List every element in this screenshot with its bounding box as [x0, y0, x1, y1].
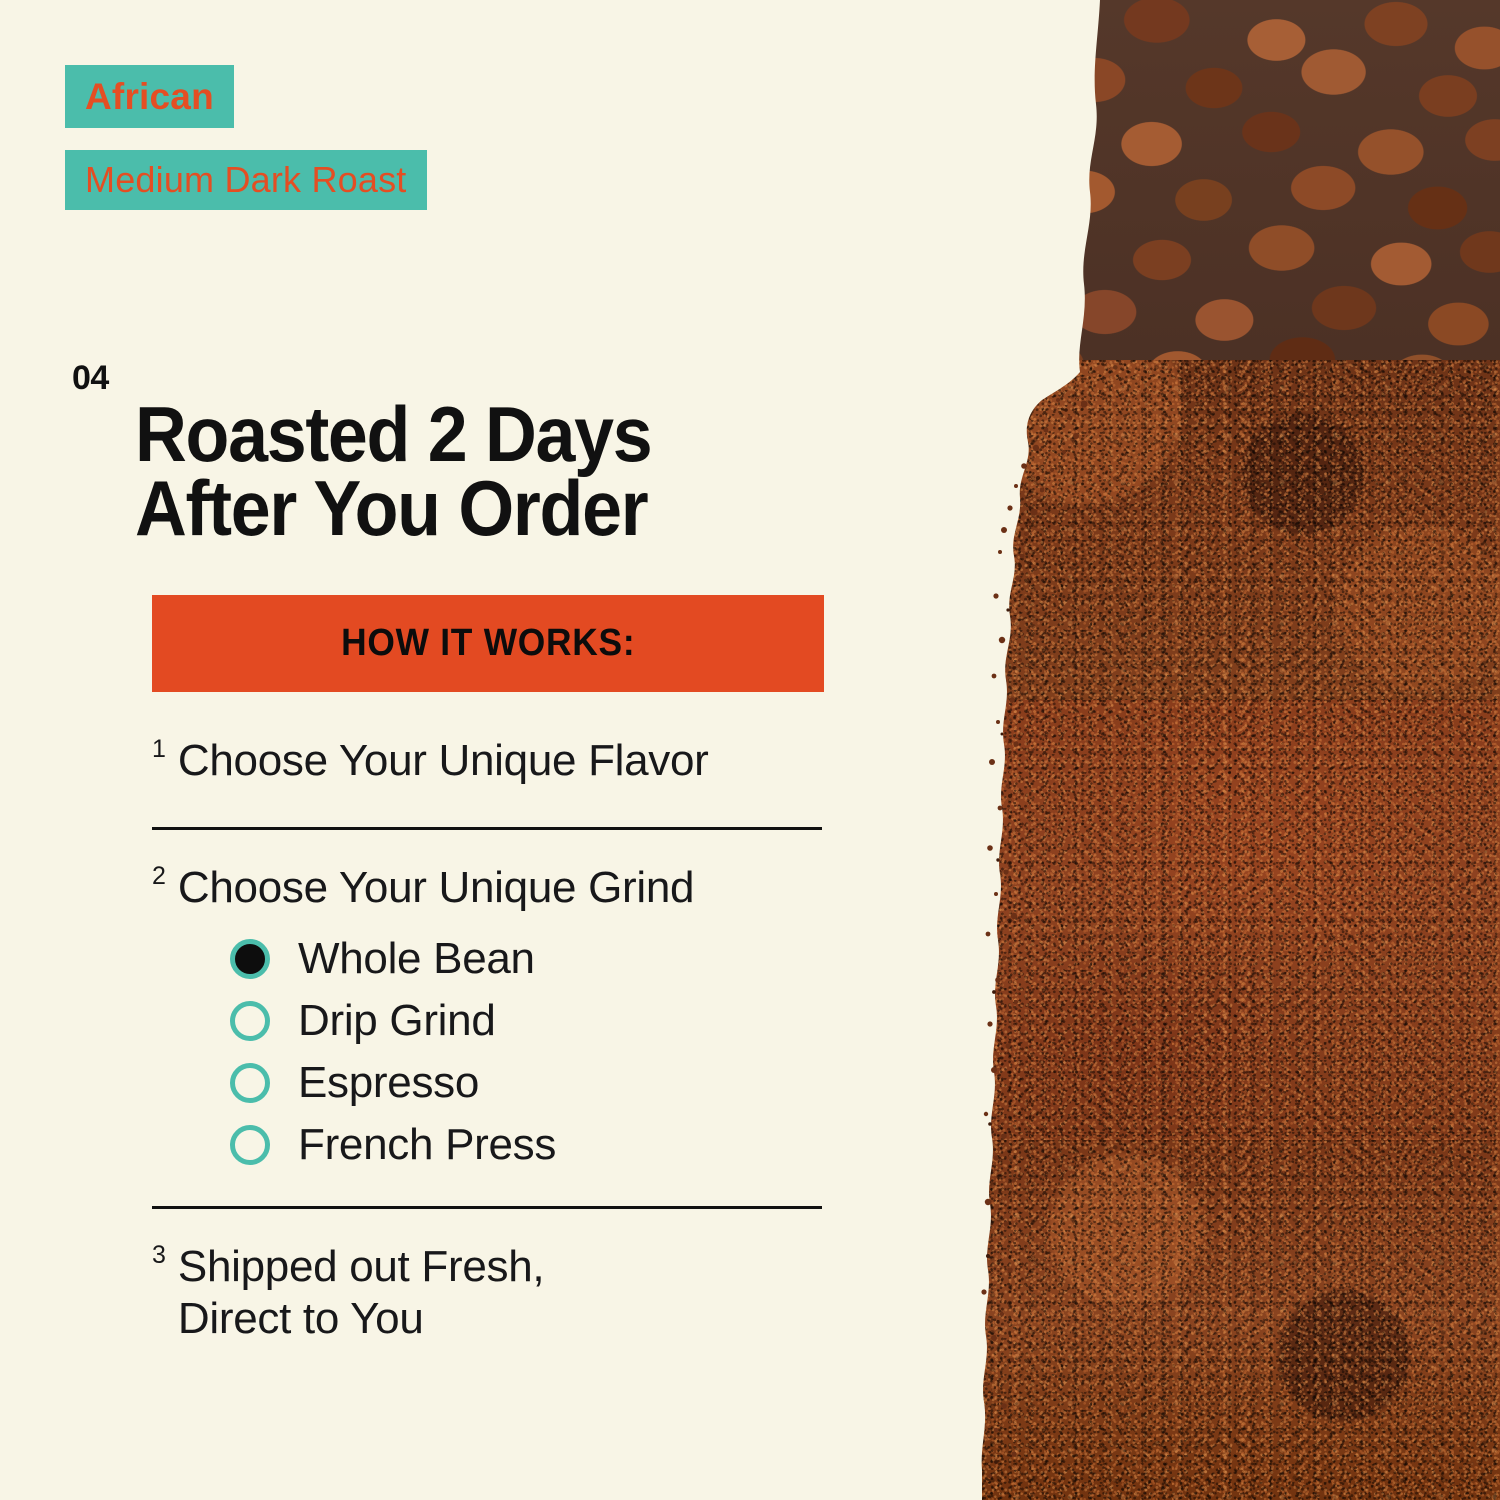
roast-tag-label: Medium Dark Roast	[85, 159, 407, 201]
step-marker: 1	[152, 737, 166, 762]
step-label: Choose Your Unique Grind	[178, 862, 694, 914]
step-label: Shipped out Fresh, Direct to You	[178, 1241, 544, 1345]
radio-selected-icon[interactable]	[230, 939, 270, 979]
grind-option-label: Drip Grind	[298, 996, 496, 1046]
product-infographic: African Medium Dark Roast 04 Roasted 2 D…	[0, 0, 1500, 1500]
coffee-photo	[980, 0, 1500, 1500]
step-item-1: 1 Choose Your Unique Flavor	[152, 735, 842, 787]
step-label: Choose Your Unique Flavor	[178, 735, 709, 787]
radio-empty-icon[interactable]	[230, 1063, 270, 1103]
content-column: African Medium Dark Roast 04 Roasted 2 D…	[0, 0, 940, 1500]
roast-tag: Medium Dark Roast	[65, 150, 427, 210]
photo-ragged-edge-mask	[980, 0, 1200, 1500]
grind-option-drip-grind[interactable]: Drip Grind	[230, 990, 842, 1052]
step-divider-2	[152, 1206, 822, 1209]
origin-tag: African	[65, 65, 234, 128]
radio-empty-icon[interactable]	[230, 1001, 270, 1041]
origin-tag-label: African	[85, 76, 214, 118]
grind-option-french-press[interactable]: French Press	[230, 1114, 842, 1176]
headline-number: 04	[72, 345, 109, 395]
headline-block: 04 Roasted 2 Days After You Order	[72, 345, 872, 598]
step-item-3: 3 Shipped out Fresh, Direct to You	[152, 1241, 842, 1345]
step-marker: 3	[152, 1243, 166, 1268]
steps-list: 1 Choose Your Unique Flavor 2 Choose You…	[152, 735, 842, 1345]
grind-option-label: Whole Bean	[298, 934, 535, 984]
step-item-2: 2 Choose Your Unique Grind	[152, 862, 842, 914]
page-title: Roasted 2 Days After You Order	[135, 397, 651, 545]
how-it-works-label: HOW IT WORKS:	[341, 622, 635, 665]
grind-option-label: French Press	[298, 1120, 556, 1170]
how-it-works-banner: HOW IT WORKS:	[152, 595, 824, 692]
radio-empty-icon[interactable]	[230, 1125, 270, 1165]
grind-option-label: Espresso	[298, 1058, 479, 1108]
step-marker: 2	[152, 864, 166, 889]
grind-options-group[interactable]: Whole Bean Drip Grind Espresso French Pr…	[230, 928, 842, 1176]
step-divider-1	[152, 827, 822, 830]
grind-option-espresso[interactable]: Espresso	[230, 1052, 842, 1114]
grind-option-whole-bean[interactable]: Whole Bean	[230, 928, 842, 990]
